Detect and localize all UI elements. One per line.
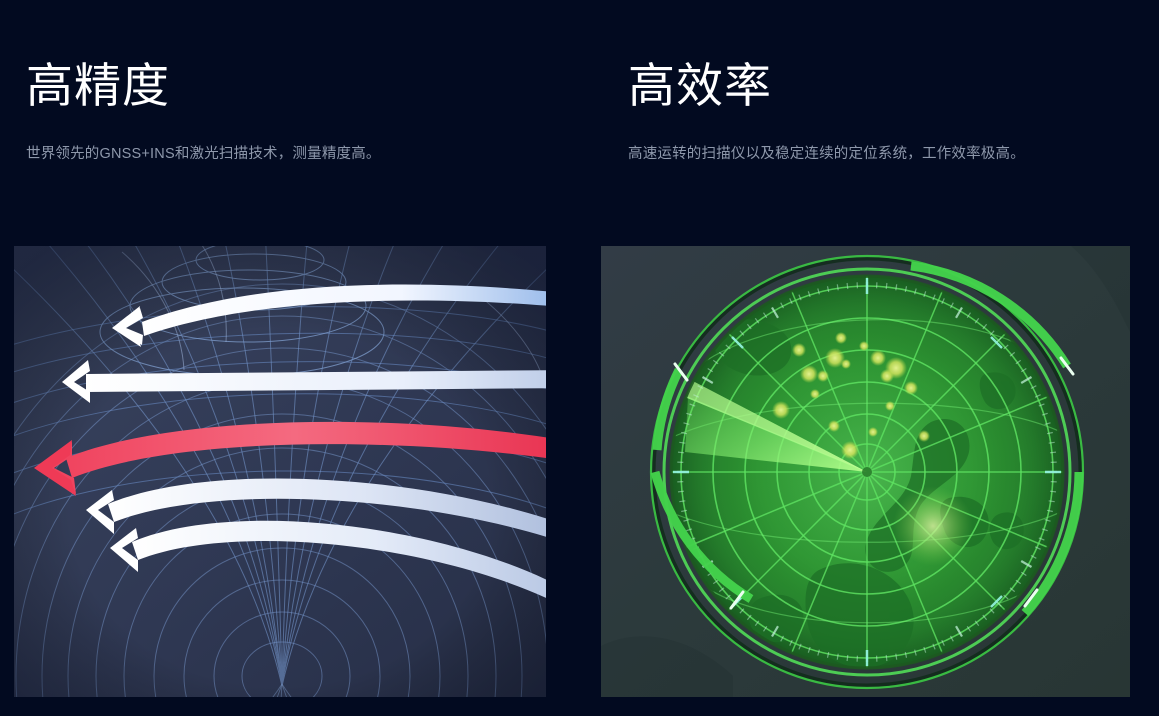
subtitle-precision: 世界领先的GNSS+INS和激光扫描技术，测量精度高。 [26,144,600,164]
radar-scope-image[interactable] [601,246,1130,697]
globe-wireframe-graphic [14,246,546,697]
globe-wireframe-image[interactable] [14,246,546,697]
radar-glow-blob [893,486,973,566]
feature-column-precision: 高精度 世界领先的GNSS+INS和激光扫描技术，测量精度高。 [0,0,600,716]
page-title-precision: 高精度 [26,56,600,116]
precision-text-block: 高精度 世界领先的GNSS+INS和激光扫描技术，测量精度高。 [0,0,600,164]
subtitle-efficiency: 高速运转的扫描仪以及稳定连续的定位系统，工作效率极高。 [628,144,1159,164]
efficiency-text-block: 高效率 高速运转的扫描仪以及稳定连续的定位系统，工作效率极高。 [600,0,1159,164]
feature-columns: 高精度 世界领先的GNSS+INS和激光扫描技术，测量精度高。 [0,0,1159,716]
radar-scope-graphic [601,246,1130,697]
feature-section: 高精度 世界领先的GNSS+INS和激光扫描技术，测量精度高。 [0,0,1159,716]
feature-column-efficiency: 高效率 高速运转的扫描仪以及稳定连续的定位系统，工作效率极高。 [600,0,1159,716]
page-title-efficiency: 高效率 [628,56,1159,116]
